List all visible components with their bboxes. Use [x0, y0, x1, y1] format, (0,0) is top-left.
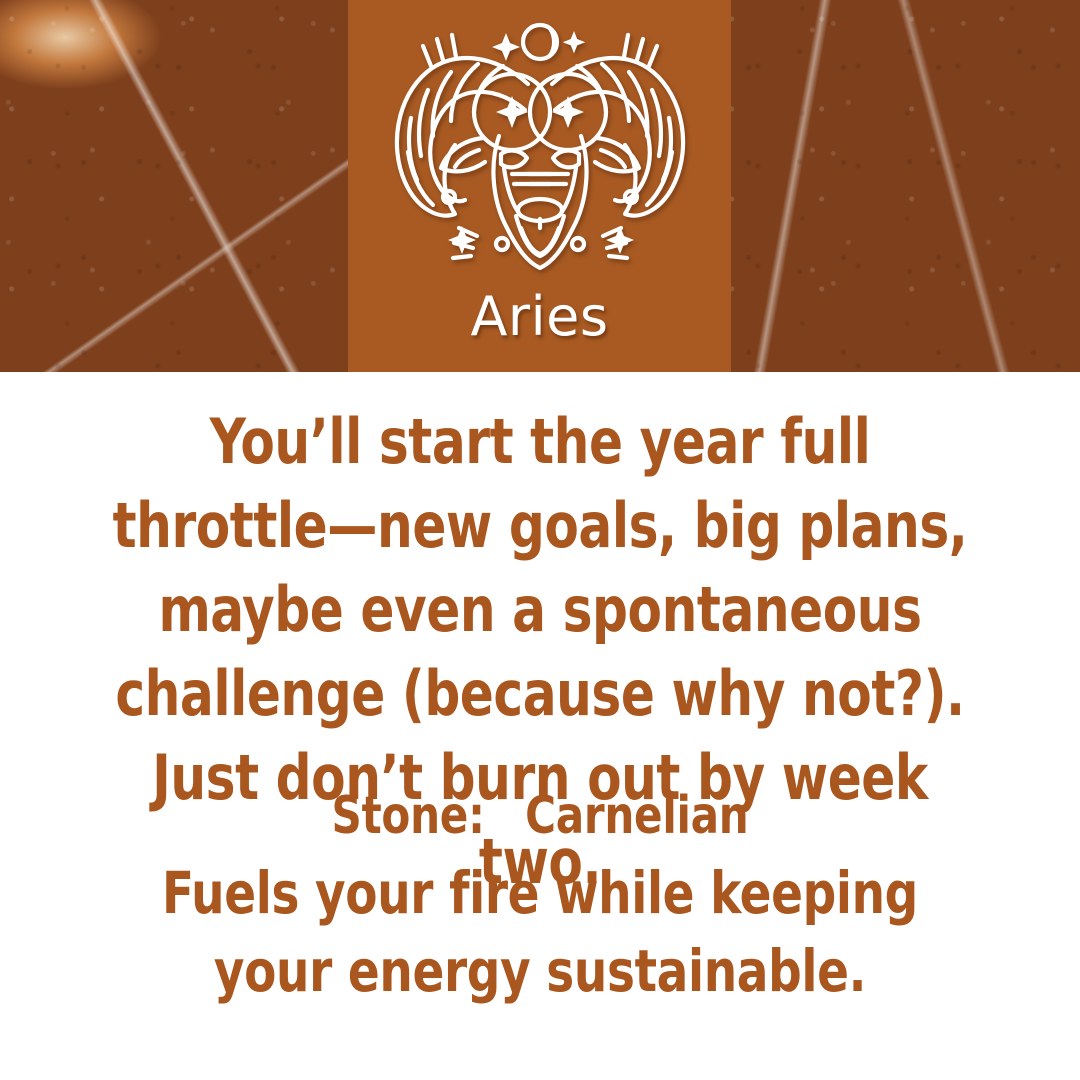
stone-label-gap: [485, 786, 525, 846]
stone-label-value: Carnelian: [525, 786, 748, 846]
sign-name-label: Aries: [470, 290, 608, 344]
aries-ram-head-icon: [375, 6, 705, 296]
stone-label-prefix: Stone:: [332, 786, 485, 846]
stone-block: Stone: Carnelian Fuels your fire while k…: [50, 782, 1030, 1010]
stone-label-line: Stone: Carnelian: [99, 782, 981, 850]
horoscope-copy-area: You’ll start the year full throttle—new …: [0, 372, 1080, 1080]
aries-sign-panel: Aries: [348, 0, 731, 372]
stone-description: Fuels your fire while keeping your energ…: [99, 854, 981, 1010]
zodiac-horoscope-card: Aries You’ll start the year full throttl…: [0, 0, 1080, 1080]
